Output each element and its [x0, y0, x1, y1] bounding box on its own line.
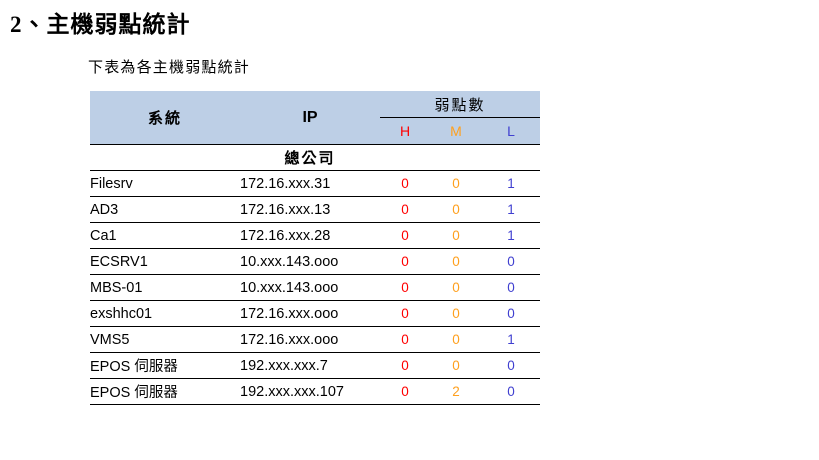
- cell-medium-count: 0: [430, 301, 482, 327]
- cell-ip-address: 172.16.xxx.ooo: [240, 301, 380, 327]
- cell-low-count: 1: [482, 223, 540, 249]
- cell-system-name: VMS5: [90, 327, 240, 353]
- cell-medium-count: 2: [430, 379, 482, 405]
- cell-ip-address: 192.xxx.xxx.7: [240, 353, 380, 379]
- table-section-label: 總公司: [240, 145, 380, 171]
- cell-low-count: 0: [482, 301, 540, 327]
- table-row: ECSRV110.xxx.143.ooo000: [90, 249, 540, 275]
- cell-medium-count: 0: [430, 223, 482, 249]
- cell-system-name: EPOS 伺服器: [90, 353, 240, 379]
- header-row-primary: 系統 IP 弱點數: [90, 91, 540, 118]
- cell-ip-address: 192.xxx.xxx.107: [240, 379, 380, 405]
- cell-ip-address: 172.16.xxx.31: [240, 171, 380, 197]
- column-header-medium: M: [430, 118, 482, 145]
- cell-high-count: 0: [380, 353, 430, 379]
- column-header-ip: IP: [240, 91, 380, 144]
- cell-ip-address: 10.xxx.143.ooo: [240, 249, 380, 275]
- table-row: Ca1172.16.xxx.28001: [90, 223, 540, 249]
- table-row: EPOS 伺服器192.xxx.xxx.7000: [90, 353, 540, 379]
- cell-medium-count: 0: [430, 171, 482, 197]
- cell-medium-count: 0: [430, 249, 482, 275]
- vulnerability-table-container: 系統 IP 弱點數 H M L 總公司Filesrv172.16.xxx.310…: [90, 91, 540, 405]
- cell-high-count: 0: [380, 249, 430, 275]
- table-row: Filesrv172.16.xxx.31001: [90, 171, 540, 197]
- column-header-system-label: 系統: [148, 111, 182, 127]
- cell-system-name: MBS-01: [90, 275, 240, 301]
- cell-high-count: 0: [380, 275, 430, 301]
- cell-system-name: AD3: [90, 197, 240, 223]
- cell-ip-address: 172.16.xxx.28: [240, 223, 380, 249]
- cell-ip-address: 10.xxx.143.ooo: [240, 275, 380, 301]
- section-row-spacer: [482, 145, 540, 171]
- cell-system-name: Filesrv: [90, 171, 240, 197]
- table-section-row: 總公司: [90, 145, 540, 171]
- cell-low-count: 0: [482, 249, 540, 275]
- table-header: 系統 IP 弱點數 H M L: [90, 91, 540, 145]
- cell-system-name: EPOS 伺服器: [90, 379, 240, 405]
- vulnerability-table: 系統 IP 弱點數 H M L 總公司Filesrv172.16.xxx.310…: [90, 91, 540, 405]
- column-header-low: L: [482, 118, 540, 145]
- document-page: { "document": { "title": "2、主機弱點統計", "su…: [0, 0, 819, 460]
- cell-low-count: 1: [482, 171, 540, 197]
- cell-medium-count: 0: [430, 353, 482, 379]
- table-row: exshhc01172.16.xxx.ooo000: [90, 301, 540, 327]
- column-header-system: 系統: [90, 91, 240, 144]
- cell-low-count: 0: [482, 353, 540, 379]
- cell-high-count: 0: [380, 301, 430, 327]
- cell-high-count: 0: [380, 379, 430, 405]
- cell-low-count: 1: [482, 327, 540, 353]
- cell-low-count: 0: [482, 379, 540, 405]
- cell-medium-count: 0: [430, 327, 482, 353]
- cell-medium-count: 0: [430, 275, 482, 301]
- cell-high-count: 0: [380, 223, 430, 249]
- page-title: 2、主機弱點統計: [10, 11, 191, 39]
- column-header-high: H: [380, 118, 430, 145]
- column-header-ip-label: IP: [302, 109, 317, 126]
- table-row: AD3172.16.xxx.13001: [90, 197, 540, 223]
- cell-ip-address: 172.16.xxx.13: [240, 197, 380, 223]
- table-row: VMS5172.16.xxx.ooo001: [90, 327, 540, 353]
- cell-ip-address: 172.16.xxx.ooo: [240, 327, 380, 353]
- cell-low-count: 0: [482, 275, 540, 301]
- cell-system-name: exshhc01: [90, 301, 240, 327]
- column-header-vuln-count: 弱點數: [380, 91, 540, 118]
- cell-high-count: 0: [380, 197, 430, 223]
- section-row-spacer: [380, 145, 430, 171]
- section-row-spacer: [90, 145, 240, 171]
- cell-medium-count: 0: [430, 197, 482, 223]
- cell-high-count: 0: [380, 171, 430, 197]
- cell-system-name: Ca1: [90, 223, 240, 249]
- table-body: 總公司Filesrv172.16.xxx.31001AD3172.16.xxx.…: [90, 145, 540, 405]
- section-row-spacer: [430, 145, 482, 171]
- table-row: EPOS 伺服器192.xxx.xxx.107020: [90, 379, 540, 405]
- page-subtitle: 下表為各主機弱點統計: [88, 57, 250, 79]
- cell-low-count: 1: [482, 197, 540, 223]
- cell-system-name: ECSRV1: [90, 249, 240, 275]
- table-row: MBS-0110.xxx.143.ooo000: [90, 275, 540, 301]
- cell-high-count: 0: [380, 327, 430, 353]
